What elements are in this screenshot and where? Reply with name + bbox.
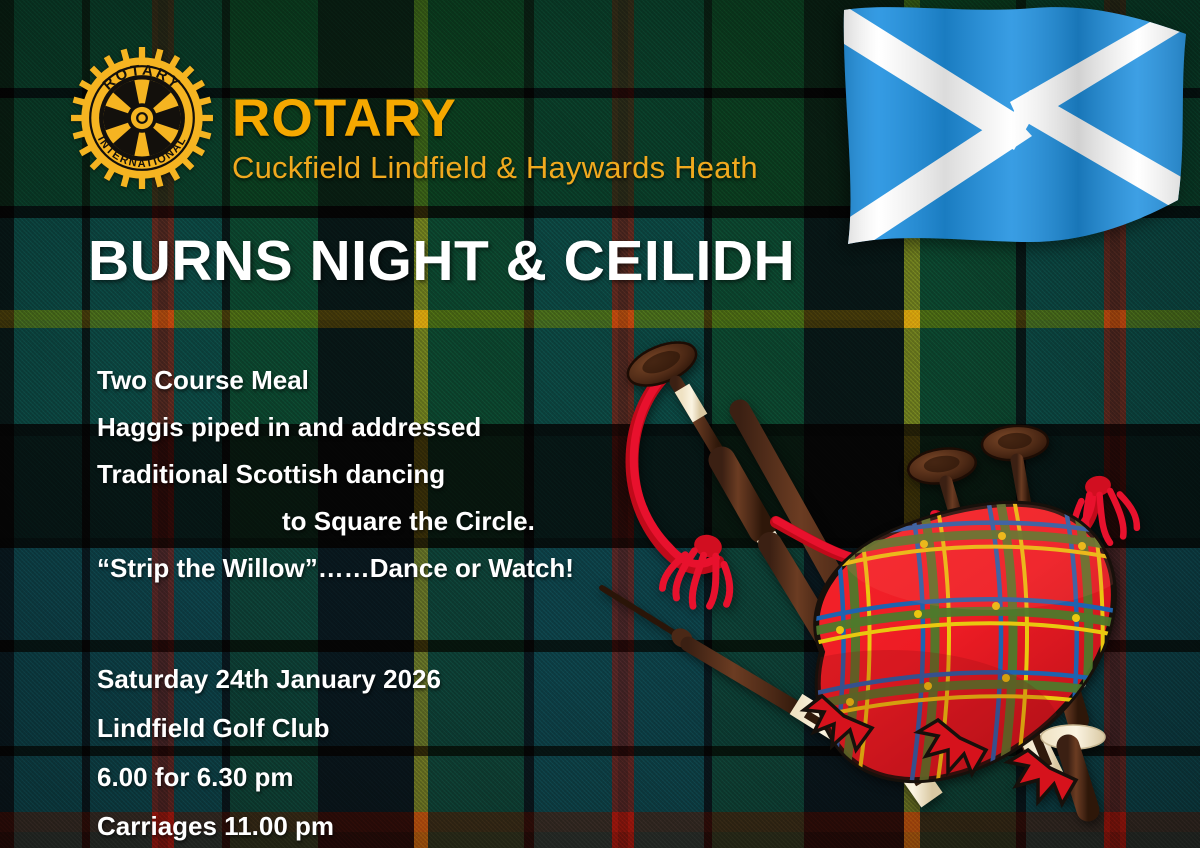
page-title: BURNS NIGHT & CEILIDH: [88, 233, 795, 290]
event-venue: Lindfield Golf Club: [97, 704, 441, 753]
features-list: Two Course Meal Haggis piped in and addr…: [97, 357, 574, 592]
scotland-saltire-flag-icon: [834, 0, 1200, 262]
event-carriages: Carriages 11.00 pm: [97, 802, 441, 848]
rotary-wheel-icon: ROTARY INTERNATIONAL: [68, 44, 216, 192]
feature-line-3: Traditional Scottish dancing: [97, 451, 574, 498]
rotary-club-name: Cuckfield Lindfield & Haywards Heath: [232, 152, 758, 183]
rotary-wordmark: ROTARY Cuckfield Lindfield & Haywards He…: [232, 92, 758, 183]
event-details: Saturday 24th January 2026 Lindfield Gol…: [97, 655, 441, 848]
rotary-title: ROTARY: [232, 92, 758, 145]
feature-line-1: Two Course Meal: [97, 357, 574, 404]
event-date: Saturday 24th January 2026: [97, 655, 441, 704]
event-time: 6.00 for 6.30 pm: [97, 753, 441, 802]
feature-line-4: to Square the Circle.: [97, 498, 574, 545]
feature-line-2: Haggis piped in and addressed: [97, 404, 574, 451]
poster-canvas: ROTARY INTERNATIONAL ROTARY Cuckfield Li…: [0, 0, 1200, 848]
feature-line-5: “Strip the Willow”……Dance or Watch!: [97, 545, 574, 592]
